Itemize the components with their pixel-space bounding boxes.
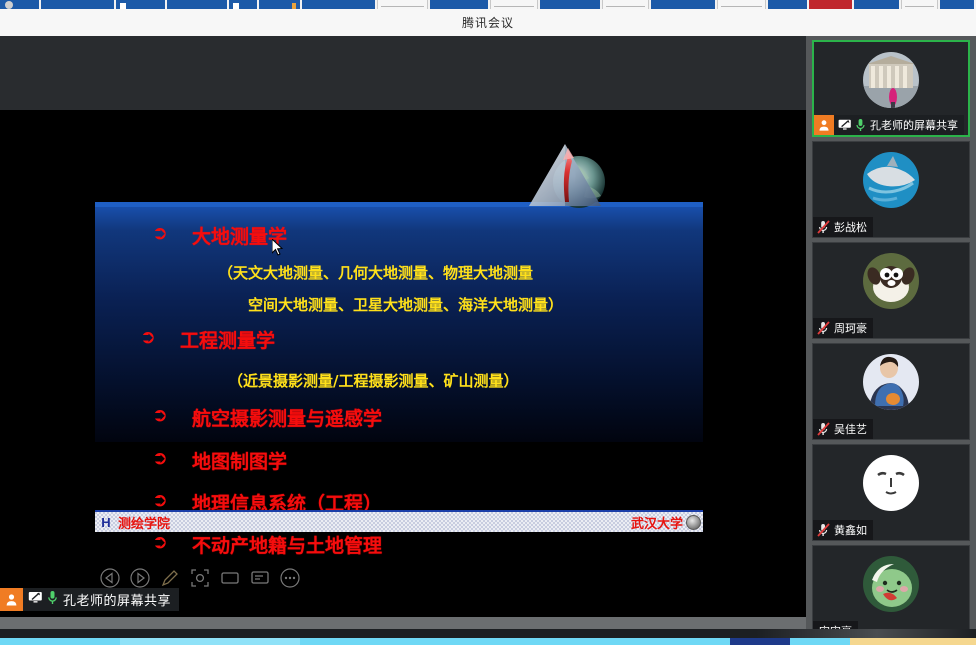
slide-line-6: 航空摄影测量与遥感学 bbox=[192, 404, 382, 431]
taskbar-item-18[interactable] bbox=[901, 0, 939, 9]
screen-share-banner: 孔老师的屏幕共享 bbox=[0, 588, 179, 611]
slide-bullet-arrow-icon-3: ➲ bbox=[152, 404, 168, 427]
background-window-segment-2 bbox=[120, 638, 300, 645]
taskbar-item-1[interactable] bbox=[0, 0, 39, 9]
participant-status-icons bbox=[813, 523, 834, 537]
green-character-avatar bbox=[863, 556, 919, 612]
meeting-toolbar-strip[interactable] bbox=[0, 629, 976, 638]
screen-share-presenter-label: 孔老师的屏幕共享 bbox=[63, 590, 179, 609]
background-window-segment-3 bbox=[300, 638, 730, 645]
participant-status-icons bbox=[813, 422, 834, 436]
background-window-segment-6 bbox=[850, 638, 976, 645]
slide-bullet-arrow-icon-6: ➲ bbox=[152, 531, 168, 554]
person-icon bbox=[0, 588, 23, 611]
taskbar-item-8[interactable] bbox=[377, 0, 428, 9]
slide-line-7: 地图制图学 bbox=[192, 447, 287, 474]
participant-tile-1[interactable]: 孔老师的屏幕共享 bbox=[812, 40, 970, 137]
participant-name: 孔老师的屏幕共享 bbox=[870, 117, 958, 133]
slide-footer: H 测绘学院 武汉大学 bbox=[95, 510, 703, 532]
participant-label: 吴佳艺 bbox=[813, 419, 873, 439]
microphone-muted-icon bbox=[817, 321, 830, 335]
screen-share-icon bbox=[838, 119, 852, 131]
shared-screen-topbar bbox=[0, 36, 806, 110]
share-status-icons bbox=[23, 590, 63, 610]
microphone-muted-icon bbox=[817, 523, 830, 537]
taskbar-item-12[interactable] bbox=[602, 0, 649, 9]
slide-line-3: 空间大地测量、卫星大地测量、海洋大地测量） bbox=[248, 294, 563, 315]
participant-status-icons bbox=[813, 321, 834, 335]
taskbar-item-11[interactable] bbox=[540, 0, 600, 9]
taskbar-item-15[interactable] bbox=[768, 0, 807, 9]
slide-footer-right-text: 武汉大学 bbox=[631, 513, 683, 532]
participant-tile-2[interactable]: 彭战松 bbox=[812, 141, 970, 238]
participant-label: 彭战松 bbox=[813, 217, 873, 237]
window-title: 腾讯会议 bbox=[462, 14, 514, 31]
participant-tile-4[interactable]: 吴佳艺 bbox=[812, 343, 970, 440]
magnifier-frame-icon[interactable] bbox=[190, 568, 210, 588]
participant-name: 彭战松 bbox=[834, 219, 867, 235]
taskbar-item-4[interactable] bbox=[167, 0, 227, 9]
person-photo-avatar bbox=[863, 354, 919, 410]
building-photo-avatar bbox=[863, 52, 919, 108]
taskbar-item-7[interactable] bbox=[302, 0, 375, 9]
slide-line-5: （近景摄影测量/工程摄影测量、矿山测量） bbox=[228, 370, 518, 391]
slide-line-4: 工程测量学 bbox=[180, 326, 275, 353]
participant-name: 周珂豪 bbox=[834, 320, 867, 336]
microphone-muted-icon bbox=[817, 220, 830, 234]
caption-icon[interactable] bbox=[250, 568, 270, 588]
window-titlebar: 腾讯会议 bbox=[0, 9, 976, 36]
background-window-segment-4 bbox=[730, 638, 790, 645]
participant-label: 周珂豪 bbox=[813, 318, 873, 338]
participant-rail[interactable]: 孔老师的屏幕共享彭战松周珂豪吴佳艺黄鑫如宋宙豪 bbox=[806, 36, 976, 629]
participant-label: 孔老师的屏幕共享 bbox=[814, 115, 964, 135]
slide-bullet-arrow-icon-4: ➲ bbox=[152, 447, 168, 470]
shark-avatar bbox=[863, 152, 919, 208]
slide-line-9: 不动产地籍与土地管理 bbox=[192, 531, 382, 558]
microphone-icon bbox=[855, 118, 866, 132]
participant-tile-5[interactable]: 黄鑫如 bbox=[812, 444, 970, 541]
participant-status-icons bbox=[834, 118, 870, 132]
ellipsis-icon[interactable] bbox=[280, 568, 300, 588]
taskbar-item-6[interactable] bbox=[259, 0, 300, 9]
pen-icon[interactable] bbox=[160, 568, 180, 588]
participant-label: 黄鑫如 bbox=[813, 520, 873, 540]
slide-bullet-arrow-icon-1: ➲ bbox=[152, 222, 168, 245]
participant-tile-3[interactable]: 周珂豪 bbox=[812, 242, 970, 339]
background-window-strip[interactable] bbox=[0, 638, 976, 645]
powerpoint-slide[interactable]: 大地测量学（天文大地测量、几何大地测量、物理大地测量空间大地测量、卫星大地测量、… bbox=[0, 110, 703, 607]
participant-tile-6[interactable]: 宋宙豪 bbox=[812, 545, 970, 642]
chevron-right-icon[interactable] bbox=[130, 568, 150, 588]
microphone-muted-icon bbox=[817, 422, 830, 436]
taskbar-item-13[interactable] bbox=[651, 0, 715, 9]
slide-footer-left-text: 测绘学院 bbox=[118, 513, 170, 532]
shared-screen-stage[interactable]: 大地测量学（天文大地测量、几何大地测量、物理大地测量空间大地测量、卫星大地测量、… bbox=[0, 36, 806, 617]
slide-bullet-arrow-icon-5: ➲ bbox=[152, 489, 168, 512]
taskbar-item-10[interactable] bbox=[490, 0, 539, 9]
desktop-taskbar[interactable] bbox=[0, 0, 976, 9]
participant-name: 吴佳艺 bbox=[834, 421, 867, 437]
background-window-segment-5 bbox=[790, 638, 850, 645]
chevron-left-icon[interactable] bbox=[100, 568, 120, 588]
mouse-cursor-icon bbox=[272, 239, 284, 257]
sheep-avatar bbox=[863, 253, 919, 309]
taskbar-item-3[interactable] bbox=[116, 0, 165, 9]
slide-text-lines: 大地测量学（天文大地测量、几何大地测量、物理大地测量空间大地测量、卫星大地测量、… bbox=[0, 110, 703, 607]
screen-share-icon bbox=[28, 591, 43, 609]
taskbar-item-16[interactable] bbox=[809, 0, 852, 9]
slide-line-2: （天文大地测量、几何大地测量、物理大地测量 bbox=[218, 262, 533, 283]
taskbar-item-19[interactable] bbox=[940, 0, 974, 9]
slide-footer-right: 武汉大学 bbox=[631, 513, 703, 532]
meeting-body: 大地测量学（天文大地测量、几何大地测量、物理大地测量空间大地测量、卫星大地测量、… bbox=[0, 36, 976, 629]
tencent-meeting-window: 腾讯会议 bbox=[0, 0, 976, 645]
slide-footer-left: H 测绘学院 bbox=[95, 513, 170, 532]
slide-bullet-arrow-icon-2: ➲ bbox=[140, 326, 156, 349]
taskbar-item-14[interactable] bbox=[717, 0, 766, 9]
taskbar-item-17[interactable] bbox=[854, 0, 899, 9]
background-window-segment-1 bbox=[0, 638, 120, 645]
toolbar-highlight bbox=[756, 629, 976, 638]
screen-icon[interactable] bbox=[220, 568, 240, 588]
school-logo-icon: H bbox=[97, 514, 115, 530]
taskbar-item-5[interactable] bbox=[229, 0, 257, 9]
participant-status-icons bbox=[813, 220, 834, 234]
university-seal-icon bbox=[686, 515, 701, 530]
white-face-avatar bbox=[863, 455, 919, 511]
taskbar-item-2[interactable] bbox=[41, 0, 114, 9]
microphone-icon bbox=[47, 590, 58, 610]
person-icon bbox=[814, 115, 834, 135]
participant-name: 黄鑫如 bbox=[834, 522, 867, 538]
taskbar-item-9[interactable] bbox=[430, 0, 488, 9]
